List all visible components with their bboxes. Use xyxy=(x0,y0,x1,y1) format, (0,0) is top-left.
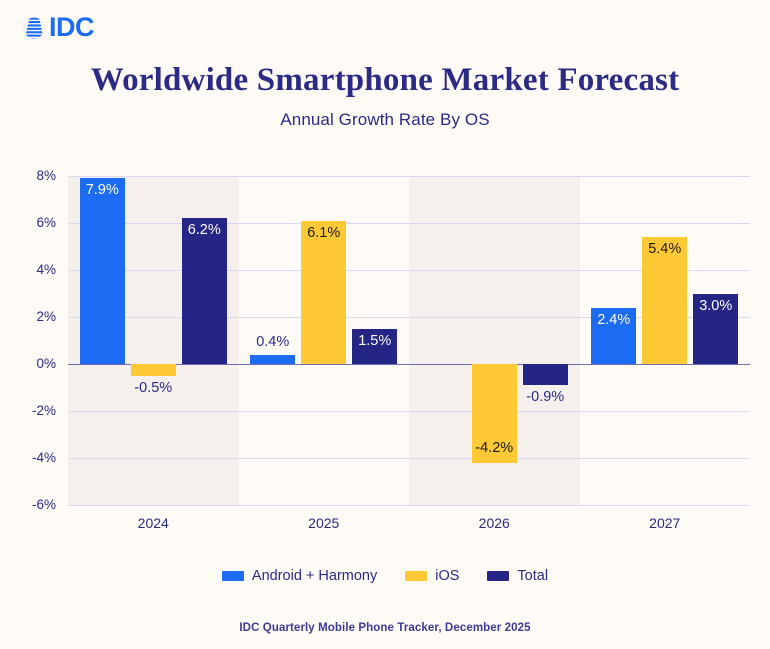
legend-item[interactable]: Android + Harmony xyxy=(222,568,377,584)
legend-swatch-icon xyxy=(222,571,244,581)
legend-item-label: Android + Harmony xyxy=(252,568,377,584)
legend-swatch-icon xyxy=(405,571,427,581)
bar-value-label: -0.9% xyxy=(515,389,576,405)
bar-android-2024[interactable] xyxy=(80,178,125,364)
y-axis-tick-label: -2% xyxy=(6,403,56,418)
bar-value-label: 2.4% xyxy=(583,312,644,328)
bar-value-label: 3.0% xyxy=(685,298,746,314)
x-axis-tick-label: 2027 xyxy=(580,515,751,531)
bar-value-label: 0.4% xyxy=(242,334,303,350)
gridline xyxy=(68,176,750,177)
gridline xyxy=(68,223,750,224)
bar-total-2026[interactable] xyxy=(523,364,568,385)
legend-item[interactable]: iOS xyxy=(405,568,459,584)
y-axis-tick-label: 2% xyxy=(6,309,56,324)
source-footnote: IDC Quarterly Mobile Phone Tracker, Dece… xyxy=(0,622,770,634)
bar-value-label: -4.2% xyxy=(464,440,525,456)
x-axis-tick-label: 2024 xyxy=(68,515,239,531)
bar-value-label: 5.4% xyxy=(634,241,695,257)
bar-total-2024[interactable] xyxy=(182,218,227,364)
bar-android-2025[interactable] xyxy=(250,355,295,364)
bar-ios-2025[interactable] xyxy=(301,221,346,364)
legend-item-label: Total xyxy=(517,568,548,584)
x-axis-tick-label: 2026 xyxy=(409,515,580,531)
x-axis-tick-label: 2025 xyxy=(239,515,410,531)
bar-value-label: 1.5% xyxy=(344,333,405,349)
legend-swatch-icon xyxy=(487,571,509,581)
y-axis-tick-label: -4% xyxy=(6,450,56,465)
chart-legend: Android + HarmonyiOSTotal xyxy=(0,568,770,584)
bar-value-label: 7.9% xyxy=(72,182,133,198)
gridline xyxy=(68,411,750,412)
y-axis-tick-label: 6% xyxy=(6,215,56,230)
legend-item[interactable]: Total xyxy=(487,568,548,584)
bar-value-label: 6.1% xyxy=(293,225,354,241)
gridline xyxy=(68,505,750,506)
legend-item-label: iOS xyxy=(435,568,459,584)
gridline xyxy=(68,458,750,459)
bar-ios-2024[interactable] xyxy=(131,364,176,376)
chart-canvas: 7.9%-0.5%6.2%0.4%6.1%1.5%-4.2%-0.9%2.4%5… xyxy=(0,0,770,649)
y-axis-tick-label: 0% xyxy=(6,356,56,371)
y-axis-tick-label: 4% xyxy=(6,262,56,277)
y-axis-tick-label: 8% xyxy=(6,168,56,183)
bar-value-label: 6.2% xyxy=(174,222,235,238)
y-axis-tick-label: -6% xyxy=(6,497,56,512)
bar-value-label: -0.5% xyxy=(123,380,184,396)
plot-area: 7.9%-0.5%6.2%0.4%6.1%1.5%-4.2%-0.9%2.4%5… xyxy=(68,176,750,505)
